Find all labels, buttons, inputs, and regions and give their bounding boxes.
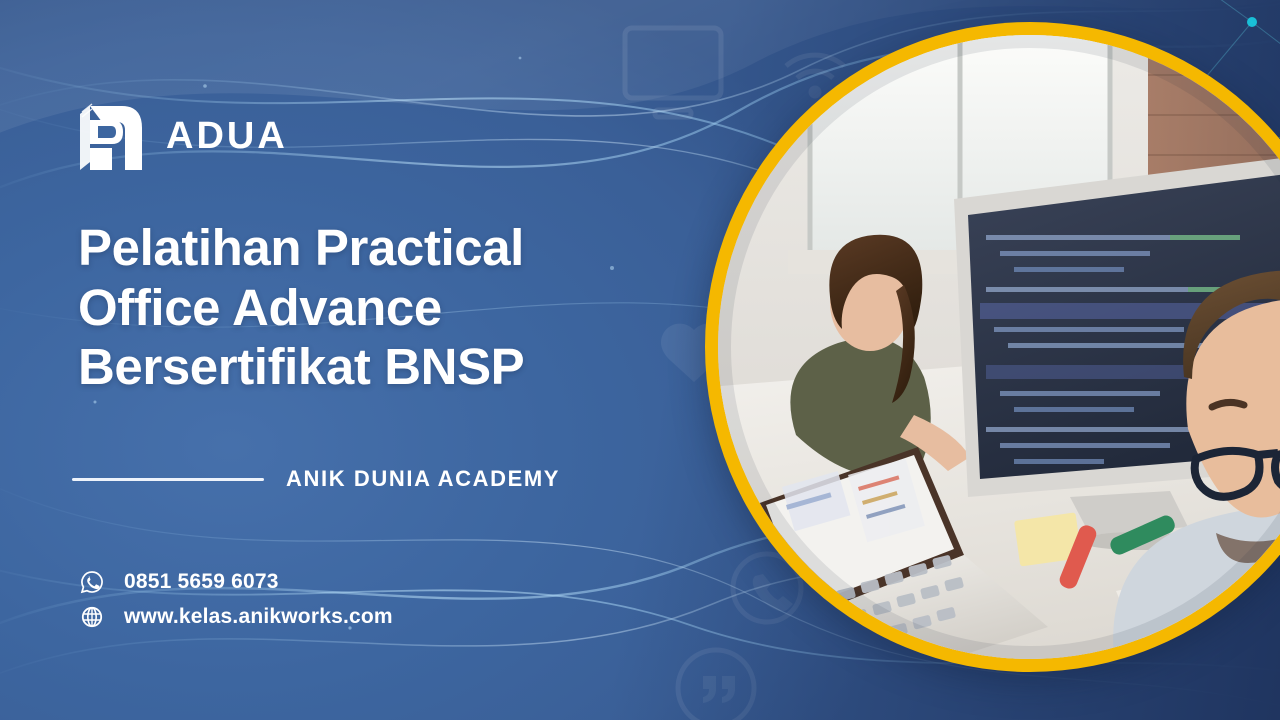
contact-website[interactable]: www.kelas.anikworks.com — [80, 605, 393, 629]
hero-photo — [718, 35, 1280, 659]
brand-lockup: ADUA — [78, 96, 288, 176]
book-d-logo-icon — [78, 96, 146, 176]
headline-line-3: Bersertifikat BNSP — [78, 337, 698, 397]
contact-phone[interactable]: 0851 5659 6073 — [80, 570, 393, 594]
subtitle-text: ANIK DUNIA ACADEMY — [286, 466, 560, 492]
whatsapp-icon — [80, 570, 104, 594]
contact-website-value: www.kelas.anikworks.com — [124, 605, 393, 629]
contact-phone-value: 0851 5659 6073 — [124, 570, 279, 594]
subtitle-row: ANIK DUNIA ACADEMY — [72, 466, 560, 492]
headline-line-1: Pelatihan Practical — [78, 218, 698, 278]
subtitle-rule — [72, 478, 264, 481]
hero-photo-illustration — [718, 35, 1280, 659]
content-column: ADUA Pelatihan Practical Office Advance … — [78, 0, 718, 720]
globe-icon — [80, 605, 104, 629]
page-title: Pelatihan Practical Office Advance Berse… — [78, 218, 698, 397]
headline-line-2: Office Advance — [78, 278, 698, 338]
brand-wordmark: ADUA — [166, 117, 288, 155]
promotional-banner: ADUA Pelatihan Practical Office Advance … — [0, 0, 1280, 720]
contact-list: 0851 5659 6073 www.kelas.anikworks.com — [80, 570, 393, 629]
